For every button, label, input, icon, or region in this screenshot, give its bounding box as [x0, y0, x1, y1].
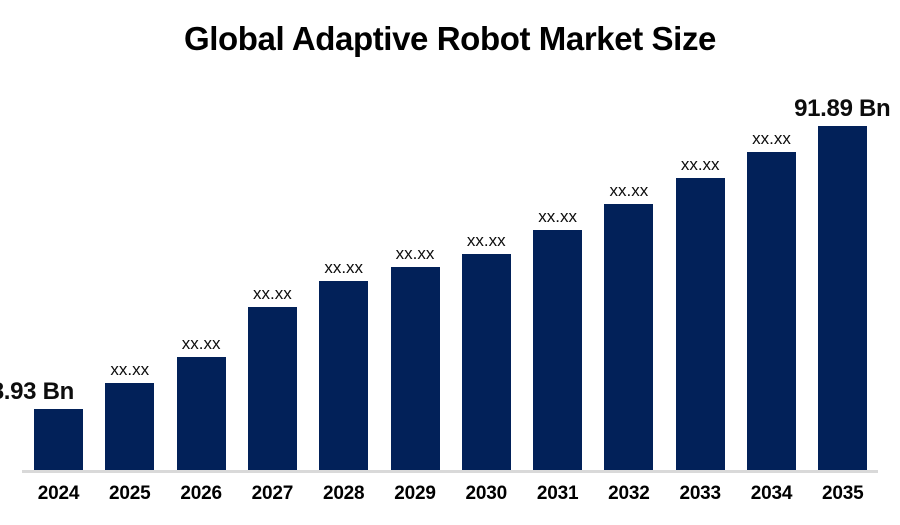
bar-value-label-2032: xx.xx — [610, 181, 649, 201]
bar-value-label-2031: xx.xx — [538, 207, 577, 227]
bar-2026: xx.xx — [177, 357, 226, 471]
x-tick-2027: 2027 — [237, 482, 308, 506]
bar-rect-2033 — [676, 178, 725, 471]
bar-2027: xx.xx — [248, 307, 297, 471]
bar-2029: xx.xx — [391, 267, 440, 471]
bar-value-label-2034: xx.xx — [752, 129, 791, 149]
bar-2030: xx.xx — [462, 254, 511, 471]
bar-value-label-2030: xx.xx — [467, 231, 506, 251]
bar-value-label-2035: 91.89 Bn — [794, 95, 890, 122]
x-tick-2031: 2031 — [522, 482, 593, 506]
bar-value-label-2026: xx.xx — [182, 334, 221, 354]
bar-rect-2031 — [533, 230, 582, 471]
bar-rect-2029 — [391, 267, 440, 471]
x-tick-2025: 2025 — [94, 482, 165, 506]
bar-rect-2025 — [105, 383, 154, 471]
x-axis-tick-labels: 2024202520262027202820292030203120322033… — [0, 482, 900, 514]
bar-rect-2035 — [818, 126, 867, 471]
bar-rect-2034 — [747, 152, 796, 471]
bar-rect-2030 — [462, 254, 511, 471]
x-tick-2032: 2032 — [593, 482, 664, 506]
bar-2028: xx.xx — [319, 281, 368, 471]
x-tick-2034: 2034 — [736, 482, 807, 506]
bar-2024: 8.93 Bn — [34, 409, 83, 471]
bar-value-label-2027: xx.xx — [253, 284, 292, 304]
bar-2034: xx.xx — [747, 152, 796, 471]
bar-2032: xx.xx — [604, 204, 653, 471]
bar-value-label-2028: xx.xx — [324, 258, 363, 278]
bar-rect-2027 — [248, 307, 297, 471]
bar-rect-2026 — [177, 357, 226, 471]
x-tick-2026: 2026 — [165, 482, 236, 506]
bar-value-label-2025: xx.xx — [110, 360, 149, 380]
plot-area: 8.93 Bnxx.xxxx.xxxx.xxxx.xxxx.xxxx.xxxx.… — [0, 0, 900, 471]
bar-2025: xx.xx — [105, 383, 154, 471]
x-tick-2035: 2035 — [807, 482, 878, 506]
bar-rect-2032 — [604, 204, 653, 471]
bar-2035: 91.89 Bn — [818, 126, 867, 471]
x-tick-2033: 2033 — [665, 482, 736, 506]
x-tick-2028: 2028 — [308, 482, 379, 506]
bar-rect-2024 — [34, 409, 83, 471]
bar-rect-2028 — [319, 281, 368, 471]
x-tick-2024: 2024 — [23, 482, 94, 506]
bar-value-label-2024: 8.93 Bn — [0, 378, 74, 405]
bar-value-label-2029: xx.xx — [396, 244, 435, 264]
bar-2031: xx.xx — [533, 230, 582, 471]
x-axis-baseline — [22, 470, 878, 473]
x-tick-2030: 2030 — [451, 482, 522, 506]
bar-chart-figure: Global Adaptive Robot Market Size 8.93 B… — [0, 0, 900, 525]
bar-value-label-2033: xx.xx — [681, 155, 720, 175]
bar-2033: xx.xx — [676, 178, 725, 471]
x-tick-2029: 2029 — [379, 482, 450, 506]
